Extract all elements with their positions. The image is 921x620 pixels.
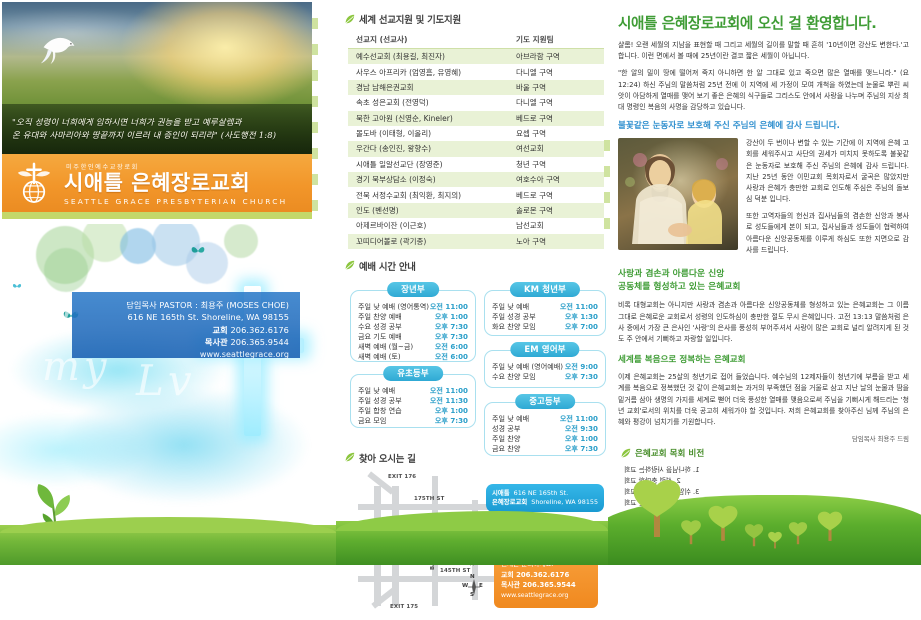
schedule-label: 주일 성경 공부 bbox=[492, 312, 536, 322]
schedule-label: 주일 낮 예배 bbox=[492, 302, 529, 312]
mission-field: 아제르바이잔 (이근호) bbox=[348, 218, 508, 233]
mission-field: 시애틀 일알선교단 (장영준) bbox=[348, 157, 508, 172]
logo-underbar bbox=[2, 212, 312, 219]
schedule-box-km-youth: KM 청년부 주일 낮 예배오전 11:00 주일 성경 공부오후 1:30 화… bbox=[484, 290, 606, 336]
schedule-box-title: 유초등부 bbox=[383, 366, 443, 381]
prayer-team: 다니엘 구역 bbox=[508, 64, 604, 79]
heart-tree-icon bbox=[704, 505, 742, 541]
schedule-box-youth: 중고등부 주일 낮 예배오전 11:00 성경 공부오전 9:30 주일 찬양오… bbox=[484, 402, 606, 456]
missions-table: 선교지 (선교사) 기도 지원팀 예수선교회 (최용길, 최진자)아브라함 구역… bbox=[348, 31, 604, 249]
website-link[interactable]: www.seattlegrace.org bbox=[72, 349, 289, 361]
right-panel: 시애틀 은혜장로교회에 오신 걸 환영합니다. 샬롬! 오랜 세월의 지남을 표… bbox=[608, 0, 921, 565]
heart-tree-icon bbox=[786, 521, 810, 545]
schedule-time: 오후 7:30 bbox=[435, 332, 468, 342]
callout-church-line1: 시애틀 bbox=[492, 489, 510, 498]
schedule-time: 오후 7:30 bbox=[565, 372, 598, 382]
schedule-time: 오후 1:00 bbox=[435, 406, 468, 416]
address-line: 616 NE 165th St. Shoreline, WA 98155 bbox=[72, 311, 289, 323]
schedule-time: 오후 7:30 bbox=[435, 322, 468, 332]
pastor-signature: 담임목사 최용주 드림 bbox=[618, 434, 909, 443]
schedule-box-title: 장년부 bbox=[387, 282, 439, 297]
map-callout-church: 시애틀616 NE 165th St. 은혜장로교회Shoreline, WA … bbox=[486, 484, 604, 513]
info-website[interactable]: www.seattlegrace.org bbox=[501, 591, 591, 600]
prayer-team: 남선교회 bbox=[508, 218, 604, 233]
schedule-box-title: 중고등부 bbox=[515, 394, 575, 409]
church-phone-value: 206.362.6176 bbox=[231, 325, 290, 335]
prayer-team: 솔로몬 구역 bbox=[508, 203, 604, 218]
prayer-team: 다니엘 구역 bbox=[508, 95, 604, 110]
info-church-label: 교회 bbox=[501, 571, 514, 579]
prayer-team: 노아 구역 bbox=[508, 234, 604, 249]
map-section-title: 찾아 오시는 길 bbox=[359, 451, 416, 465]
jesus-with-child-image bbox=[618, 138, 738, 250]
table-row: 시애틀 일알선교단 (장영준)청년 구역 bbox=[348, 157, 604, 172]
leaf-bullet-icon bbox=[344, 14, 355, 25]
table-row: 인도 (벤선명)솔로몬 구역 bbox=[348, 203, 604, 218]
mission-field: 꼬띠디어볼로 (곽기종) bbox=[348, 234, 508, 249]
scripture-paragraph: "한 알의 밀이 땅에 떨어져 죽지 아니하면 한 알 그대로 있고 죽으면 많… bbox=[618, 68, 909, 113]
prayer-team: 청년 구역 bbox=[508, 157, 604, 172]
bokeh-circle bbox=[120, 228, 156, 264]
mission-field: 경기 북부상담소 (이정숙) bbox=[348, 172, 508, 187]
table-row: 몰도바 (이태형, 이올리)요셉 구역 bbox=[348, 126, 604, 141]
edge-tick-strip bbox=[312, 0, 318, 230]
closing-paragraph: 이제 은혜교회는 25살의 청년기로 접어 들었습니다. 예수님의 12제자들이… bbox=[618, 372, 909, 428]
heart-tree-icon bbox=[742, 523, 766, 547]
hero-photo: "오직 성령이 너희에게 임하시면 너희가 권능을 받고 예루살렘과 온 유대와… bbox=[2, 2, 312, 154]
callout-church-line2: 은혜장로교회 bbox=[492, 498, 527, 507]
schedule-section-title: 예배 시간 안내 bbox=[359, 259, 416, 273]
schedule-box-children: 유초등부 주일 낮 예배오전 11:00 주일 성경 공부오전 11:30 주일… bbox=[350, 374, 476, 428]
cloud-decoration bbox=[2, 6, 192, 52]
schedule-time: 오후 1:00 bbox=[435, 312, 468, 322]
schedule-label: 성경 공부 bbox=[492, 424, 520, 434]
mission-field: 몰도바 (이태형, 이올리) bbox=[348, 126, 508, 141]
mission-field: 인도 (벤선명) bbox=[348, 203, 508, 218]
schedule-label: 주일 찬양 예배 bbox=[358, 312, 402, 322]
table-header-row: 선교지 (선교사) 기도 지원팀 bbox=[348, 31, 604, 49]
schedule-time: 오전 11:30 bbox=[430, 396, 468, 406]
table-row: 속초 성은교회 (전영덕)다니엘 구역 bbox=[348, 95, 604, 110]
dove-icon bbox=[38, 30, 80, 66]
table-row: 아제르바이잔 (이근호)남선교회 bbox=[348, 218, 604, 233]
schedule-label: 금요 모임 bbox=[358, 416, 386, 426]
section2-heading: 세계를 복음으로 정복하는 은혜교회 bbox=[618, 353, 909, 365]
schedule-box-title: KM 청년부 bbox=[510, 282, 580, 297]
highlight-line-1: 불꽃같은 눈동자로 보호해 주신 주님의 은혜에 감사 드립니다. bbox=[618, 119, 909, 131]
table-row: 사우스 아프리카 (엄영흠, 유영혜)다니엘 구역 bbox=[348, 64, 604, 79]
schedule-time: 오후 7:30 bbox=[565, 444, 598, 454]
logo-name-english: SEATTLE GRACE PRESBYTERIAN CHURCH bbox=[64, 197, 287, 206]
schedule-time: 오전 6:00 bbox=[435, 342, 468, 352]
mission-field: 우간다 (송인진, 왕향수) bbox=[348, 141, 508, 156]
verse-line-1: "오직 성령이 너희에게 임하시면 너희가 권능을 받고 예루살렘과 bbox=[12, 116, 304, 129]
middle-panel: 세계 선교지원 및 기도지원 선교지 (선교사) 기도 지원팀 예수선교회 (최… bbox=[336, 0, 608, 565]
street-label-exit176: EXIT 176 bbox=[388, 474, 416, 480]
prayer-team: 아브라함 구역 bbox=[508, 49, 604, 65]
quote-heading-line1: 사랑과 겸손과 아름다운 신앙 bbox=[618, 268, 909, 281]
table-row: 꼬띠디어볼로 (곽기종)노아 구역 bbox=[348, 234, 604, 249]
schedule-label: 금요 찬양 bbox=[492, 444, 520, 454]
info-manse-label: 목사관 bbox=[501, 581, 520, 589]
prayer-team: 여선교회 bbox=[508, 141, 604, 156]
prayer-team: 요셉 구역 bbox=[508, 126, 604, 141]
logo-name-korean: 시애틀 은혜장로교회 bbox=[64, 172, 287, 194]
mission-field: 경남 남해은권교회 bbox=[348, 80, 508, 95]
jesus-side-text: 강산이 두 번이나 변할 수 있는 기간에 이 지역에 은혜 고회를 세워주시고… bbox=[746, 138, 909, 262]
callout-address-line1: 616 NE 165th St. bbox=[514, 489, 568, 498]
schedule-time: 오후 7:30 bbox=[435, 416, 468, 426]
mission-field: 속초 성은교회 (전영덕) bbox=[348, 95, 508, 110]
table-row: 경남 남해은권교회바울 구역 bbox=[348, 80, 604, 95]
table-row: 경기 북부상담소 (이정숙)여호수아 구역 bbox=[348, 172, 604, 187]
schedule-grid: 장년부 주일 낮 예배 (영어통역)오전 11:00 주일 찬양 예배오후 1:… bbox=[346, 278, 610, 443]
schedule-time: 오전 6:00 bbox=[435, 352, 468, 362]
prayer-team: 베드로 구역 bbox=[508, 187, 604, 202]
prayer-team: 베드로 구역 bbox=[508, 111, 604, 126]
pastor-line: 담임목사 PASTOR : 최용주 (MOSES CHOE) bbox=[72, 299, 289, 311]
schedule-time: 오후 7:00 bbox=[565, 322, 598, 332]
schedule-label: 수요 찬양 모임 bbox=[492, 372, 536, 382]
quote-heading-line2: 공동체를 형성하고 있는 은혜교회 bbox=[618, 281, 909, 294]
mission-field: 사우스 아프리카 (엄영흠, 유영혜) bbox=[348, 64, 508, 79]
schedule-label: 주일 낮 예배 bbox=[358, 386, 395, 396]
street-label-175th: 175TH ST bbox=[414, 496, 444, 502]
church-logo-banner: 미주한인예수교장로회 시애틀 은혜장로교회 SEATTLE GRACE PRES… bbox=[2, 154, 312, 212]
manse-phone-label: 목사관 bbox=[205, 337, 228, 347]
col-header-field: 선교지 (선교사) bbox=[348, 31, 508, 49]
community-quote-heading: 사랑과 겸손과 아름다운 신앙 공동체를 형성하고 있는 은혜교회 bbox=[618, 268, 909, 294]
schedule-label: 수요 성경 공부 bbox=[358, 322, 402, 332]
schedule-label: 새벽 예배 (월~금) bbox=[358, 342, 413, 352]
schedule-label: 금요 기도 예배 bbox=[358, 332, 402, 342]
schedule-label: 주일 찬양 bbox=[492, 434, 520, 444]
heart-tree-icon bbox=[766, 531, 784, 549]
schedule-time: 오전 11:00 bbox=[560, 414, 598, 424]
butterfly-icon bbox=[190, 244, 206, 258]
missions-section-header: 세계 선교지원 및 기도지원 bbox=[344, 12, 608, 26]
schedule-time: 오전 9:30 bbox=[565, 424, 598, 434]
missions-section-title: 세계 선교지원 및 기도지원 bbox=[359, 12, 461, 26]
info-church-phone: 206.362.6176 bbox=[516, 571, 569, 579]
contact-info-box: 담임목사 PASTOR : 최용주 (MOSES CHOE) 616 NE 16… bbox=[72, 292, 300, 358]
welcome-headline: 시애틀 은혜장로교회에 오신 걸 환영합니다. bbox=[618, 12, 909, 33]
schedule-label: 주일 낮 예배 bbox=[492, 414, 529, 424]
logo-supertext: 미주한인예수교장로회 bbox=[66, 162, 287, 171]
grass-footer bbox=[0, 525, 336, 565]
heart-tree-icon bbox=[678, 519, 704, 545]
schedule-box-adult: 장년부 주일 낮 예배 (영어통역)오전 11:00 주일 찬양 예배오후 1:… bbox=[350, 290, 476, 362]
schedule-section-header: 예배 시간 안내 bbox=[344, 259, 608, 273]
leaf-bullet-icon bbox=[344, 452, 355, 463]
verse-line-2: 온 유대와 사마리아와 땅끝까지 이르러 내 증인이 되리라" (사도행전 1:… bbox=[12, 129, 304, 142]
intro-paragraph: 샬롬! 오랜 세월의 지남을 표현할 때 그리고 세월의 길이를 말할 때 흔히… bbox=[618, 40, 909, 62]
table-row: 전북 서정수교회 (최익환, 최지의)베드로 구역 bbox=[348, 187, 604, 202]
prayer-team: 여호수아 구역 bbox=[508, 172, 604, 187]
leaf-bullet-icon bbox=[344, 260, 355, 271]
schedule-box-title: EM 영어부 bbox=[510, 342, 579, 357]
missions-table-body: 예수선교회 (최용길, 최진자)아브라함 구역 사우스 아프리카 (엄영흠, 유… bbox=[348, 49, 604, 249]
vision-title: 은혜교회 목회 비전 bbox=[635, 447, 704, 459]
compass-rose: N S E W bbox=[462, 574, 484, 600]
left-panel: "오직 성령이 너희에게 임하시면 너희가 권능을 받고 예루살렘과 온 유대와… bbox=[0, 0, 336, 565]
col-header-prayer-team: 기도 지원팀 bbox=[508, 31, 604, 49]
mission-field: 북한 고아원 (신영순, Kineler) bbox=[348, 111, 508, 126]
church-phone-label: 교회 bbox=[213, 325, 228, 335]
schedule-time: 오후 1:00 bbox=[565, 434, 598, 444]
schedule-label: 주일 낮 예배 (영어통역) bbox=[358, 302, 429, 312]
mission-field: 전북 서정수교회 (최익환, 최지의) bbox=[348, 187, 508, 202]
table-row: 북한 고아원 (신영순, Kineler)베드로 구역 bbox=[348, 111, 604, 126]
hill-illustration bbox=[608, 469, 921, 565]
leaf-bullet-icon bbox=[620, 448, 631, 459]
jesus-image-row: 강산이 두 번이나 변할 수 있는 기간에 이 지역에 은혜 고회를 세워주시고… bbox=[618, 138, 909, 262]
schedule-time: 오후 1:30 bbox=[565, 312, 598, 322]
schedule-label: 주일 낮 예배 (영어예배) bbox=[492, 362, 563, 372]
schedule-time: 오전 11:00 bbox=[430, 386, 468, 396]
decorative-artwork: F or my Lv 담임목사 PASTOR : 최용주 (MOSES CHOE… bbox=[0, 224, 336, 565]
side-paragraph-2: 또한 고역자들의 헌신과 집사님들의 겸손한 신앙과 봉사로 성도들에게 본이 … bbox=[746, 211, 909, 256]
church-logo-icon bbox=[12, 161, 56, 205]
schedule-label: 주일 성경 공부 bbox=[358, 396, 402, 406]
brochure-page: "오직 성령이 너희에게 임하시면 너희가 권능을 받고 예루살렘과 온 유대와… bbox=[0, 0, 921, 565]
schedule-time: 오전 11:00 bbox=[560, 302, 598, 312]
vision-section-header: 은혜교회 목회 비전 bbox=[620, 447, 909, 459]
grass-footer-middle bbox=[336, 521, 608, 565]
schedule-time: 오전 11:00 bbox=[430, 302, 468, 312]
bokeh-circle bbox=[44, 248, 88, 292]
watermark-script: Lv bbox=[136, 356, 196, 405]
mission-field: 예수선교회 (최용길, 최진자) bbox=[348, 49, 508, 65]
edge-tick-strip-right bbox=[604, 140, 609, 270]
manse-phone-value: 206.365.9544 bbox=[231, 337, 290, 347]
side-paragraph-1: 강산이 두 번이나 변할 수 있는 기간에 이 지역에 은혜 고회를 세워주시고… bbox=[746, 138, 909, 205]
schedule-time: 오전 9:00 bbox=[565, 362, 598, 372]
callout-address-line2: Shoreline, WA 98155 bbox=[531, 498, 598, 507]
prayer-team: 바울 구역 bbox=[508, 80, 604, 95]
schedule-label: 새벽 예배 (토) bbox=[358, 352, 401, 362]
schedule-label: 화요 찬양 모임 bbox=[492, 322, 536, 332]
schedule-label: 주일 합창 연습 bbox=[358, 406, 402, 416]
bokeh-circle bbox=[224, 224, 258, 258]
schedule-box-em-english: EM 영어부 주일 낮 예배 (영어예배)오전 9:00 수요 찬양 모임오후 … bbox=[484, 350, 606, 388]
street-label-exit175: EXIT 175 bbox=[390, 604, 418, 610]
community-paragraph: 비록 대형교회는 아니지만 사랑과 겸손과 아름다운 신앙공동체를 형성하고 있… bbox=[618, 300, 909, 345]
heart-tree-icon bbox=[814, 511, 846, 541]
verse-band: "오직 성령이 너희에게 임하시면 너희가 권능을 받고 예루살렘과 온 유대와… bbox=[2, 104, 312, 154]
table-row: 우간다 (송인진, 왕향수)여선교회 bbox=[348, 141, 604, 156]
table-row: 예수선교회 (최용길, 최진자)아브라함 구역 bbox=[348, 49, 604, 65]
info-manse-phone: 206.365.9544 bbox=[522, 581, 575, 589]
